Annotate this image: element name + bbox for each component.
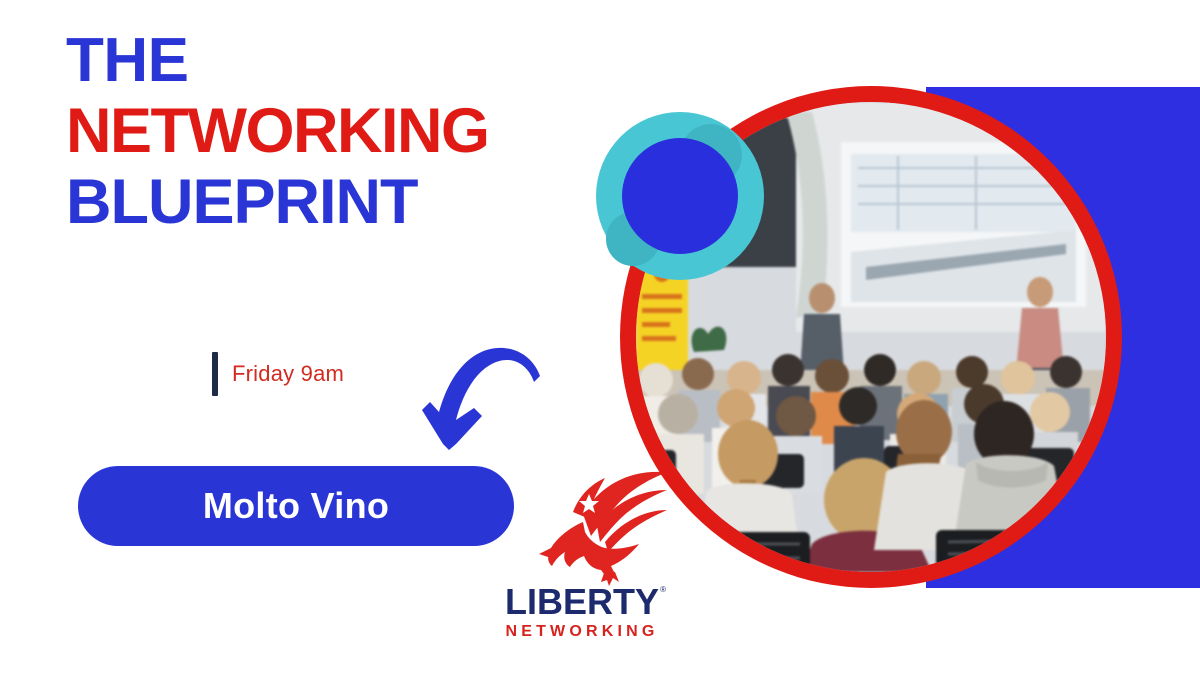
logo-wordmark: LIBERTY ® NETWORKING	[497, 584, 667, 640]
venue-button-label: Molto Vino	[203, 485, 389, 527]
accent-bar	[212, 352, 218, 396]
logo-trademark: ®	[660, 586, 666, 594]
page-title: THE NETWORKING BLUEPRINT	[66, 30, 586, 234]
logo-brand-secondary: NETWORKING	[497, 624, 667, 640]
headline-line-blueprint: BLUEPRINT	[66, 171, 586, 234]
event-promo-poster: THE NETWORKING BLUEPRINT Friday 9am Molt…	[0, 0, 1200, 675]
headline-line-networking: NETWORKING	[66, 100, 586, 163]
logo-brand-primary: LIBERTY ®	[505, 584, 659, 620]
event-time-label: Friday 9am	[232, 361, 344, 387]
venue-button[interactable]: Molto Vino	[78, 466, 514, 546]
event-time-row: Friday 9am	[212, 352, 344, 396]
curved-arrow-down-left-icon	[412, 340, 542, 462]
accent-core-circle	[622, 138, 738, 254]
headline-line-the: THE	[66, 30, 586, 92]
teal-ring-circle-icon	[596, 112, 764, 280]
logo-brand-primary-text: LIBERTY	[505, 581, 659, 622]
